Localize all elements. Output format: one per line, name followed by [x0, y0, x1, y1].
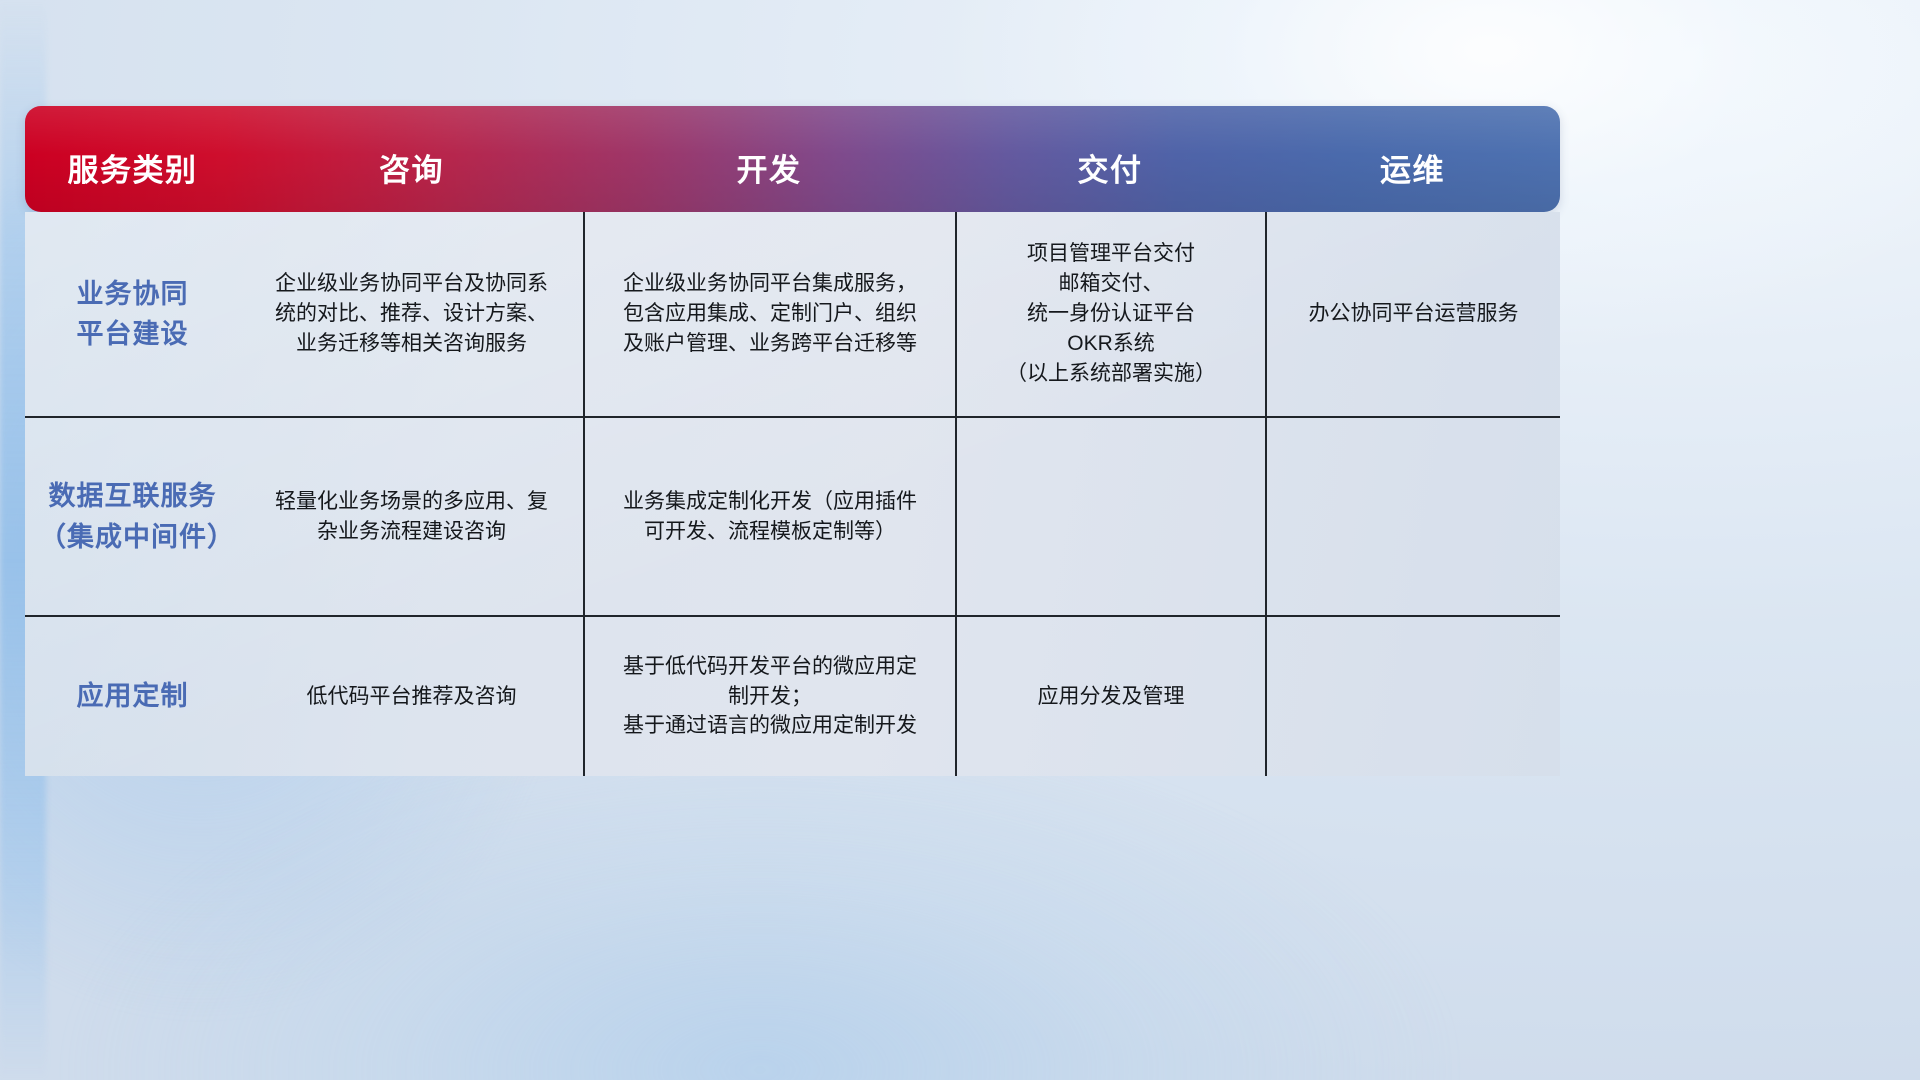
cell-text: 轻量化业务场景的多应用、复杂业务流程建设咨询	[254, 487, 569, 547]
cell-text: 企业级业务协同平台集成服务，包含应用集成、定制门户、组织及账户管理、业务跨平台迁…	[599, 269, 941, 358]
table-row: 应用定制 低代码平台推荐及咨询 基于低代码开发平台的微应用定制开发；基于通过语言…	[25, 617, 1560, 776]
cell-operations	[1265, 418, 1560, 615]
cell-text: 数据互联服务（集成中间件）	[39, 476, 226, 557]
cell-text: 业务协同平台建设	[39, 274, 226, 355]
column-header-consulting: 咨询	[240, 145, 583, 212]
column-header-category: 服务类别	[25, 145, 240, 212]
column-header-development: 开发	[583, 145, 955, 212]
cell-text: 办公协同平台运营服务	[1281, 299, 1546, 329]
cell-development: 基于低代码开发平台的微应用定制开发；基于通过语言的微应用定制开发	[583, 617, 955, 776]
cell-operations	[1265, 617, 1560, 776]
row-category-label: 业务协同平台建设	[25, 212, 240, 416]
table-row: 数据互联服务（集成中间件） 轻量化业务场景的多应用、复杂业务流程建设咨询 业务集…	[25, 418, 1560, 617]
cell-text: 低代码平台推荐及咨询	[254, 682, 569, 712]
cell-text: 基于低代码开发平台的微应用定制开发；基于通过语言的微应用定制开发	[599, 652, 941, 741]
cell-consulting: 轻量化业务场景的多应用、复杂业务流程建设咨询	[240, 418, 583, 615]
table-body: 业务协同平台建设 企业级业务协同平台及协同系统的对比、推荐、设计方案、业务迁移等…	[25, 212, 1560, 776]
cell-delivery: 应用分发及管理	[955, 617, 1265, 776]
cell-development: 企业级业务协同平台集成服务，包含应用集成、定制门户、组织及账户管理、业务跨平台迁…	[583, 212, 955, 416]
table-header-row: 服务类别 咨询 开发 交付 运维	[25, 106, 1560, 212]
cell-delivery: 项目管理平台交付邮箱交付、统一身份认证平台OKR系统（以上系统部署实施）	[955, 212, 1265, 416]
cell-text: 应用分发及管理	[971, 682, 1251, 712]
cell-text: 项目管理平台交付邮箱交付、统一身份认证平台OKR系统（以上系统部署实施）	[971, 239, 1251, 388]
cell-delivery	[955, 418, 1265, 615]
cell-text: 应用定制	[39, 676, 226, 717]
column-header-operations: 运维	[1265, 145, 1560, 212]
cell-consulting: 低代码平台推荐及咨询	[240, 617, 583, 776]
cell-text: 企业级业务协同平台及协同系统的对比、推荐、设计方案、业务迁移等相关咨询服务	[254, 269, 569, 358]
cell-consulting: 企业级业务协同平台及协同系统的对比、推荐、设计方案、业务迁移等相关咨询服务	[240, 212, 583, 416]
service-matrix-table: 服务类别 咨询 开发 交付 运维 业务协同平台建设 企业级业务协同平台及协同系统…	[25, 106, 1560, 776]
cell-development: 业务集成定制化开发（应用插件可开发、流程模板定制等）	[583, 418, 955, 615]
row-category-label: 数据互联服务（集成中间件）	[25, 418, 240, 615]
row-category-label: 应用定制	[25, 617, 240, 776]
cell-operations: 办公协同平台运营服务	[1265, 212, 1560, 416]
table-row: 业务协同平台建设 企业级业务协同平台及协同系统的对比、推荐、设计方案、业务迁移等…	[25, 212, 1560, 418]
column-header-delivery: 交付	[955, 145, 1265, 212]
cell-text: 业务集成定制化开发（应用插件可开发、流程模板定制等）	[599, 487, 941, 547]
